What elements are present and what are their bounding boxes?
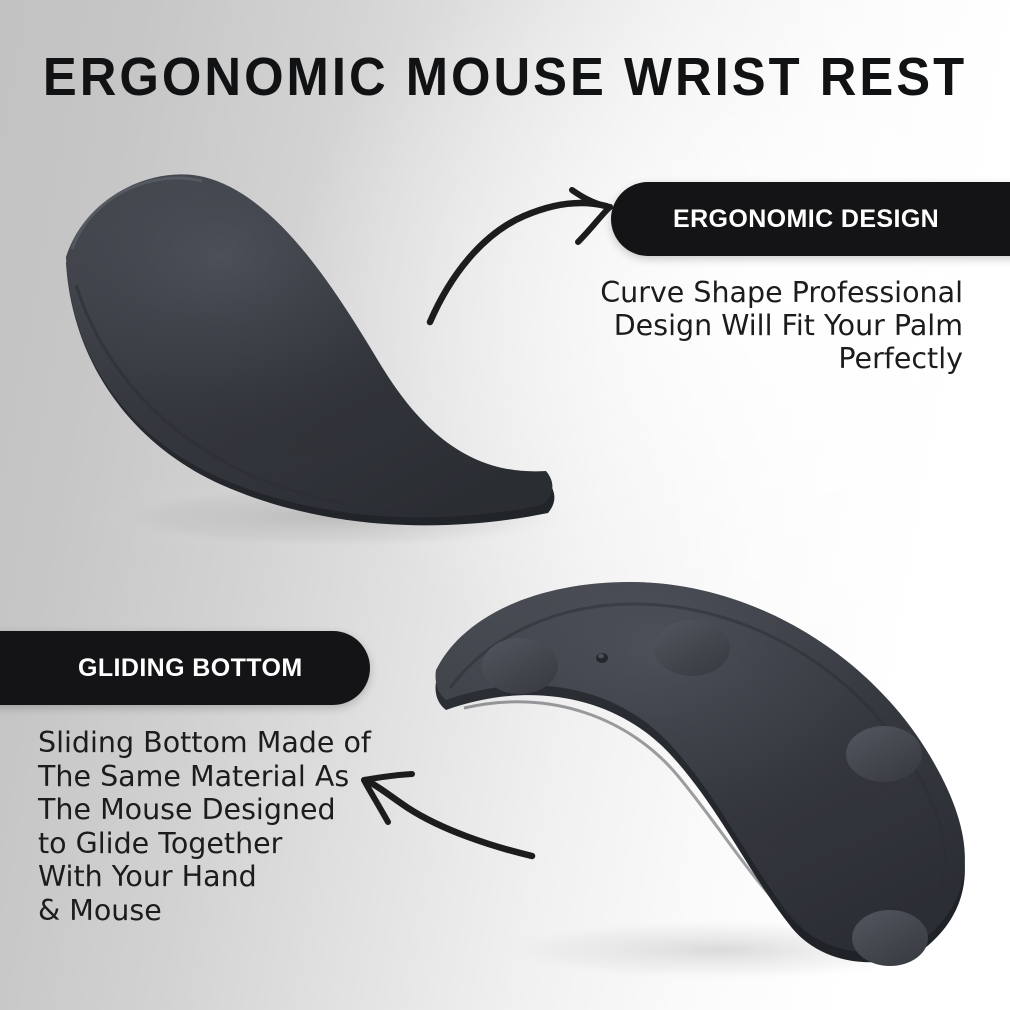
feature-description-line: & Mouse bbox=[38, 894, 398, 928]
badge-gliding-bottom: GLIDING BOTTOM bbox=[0, 631, 370, 705]
glide-pad bbox=[852, 910, 928, 966]
feature-description-line: Perfectly bbox=[533, 342, 963, 375]
badge-ergonomic-design-label: ERGONOMIC DESIGN bbox=[673, 205, 939, 234]
vent-hole-highlight bbox=[598, 654, 604, 658]
feature-description-line: Sliding Bottom Made of bbox=[38, 726, 398, 760]
feature-description-ergonomic: Curve Shape Professional Design Will Fit… bbox=[533, 276, 963, 375]
product-image-bottom-view bbox=[420, 570, 1010, 990]
product-infographic: ERGONOMIC MOUSE WRIST REST bbox=[0, 0, 1010, 1010]
page-title: ERGONOMIC MOUSE WRIST REST bbox=[30, 46, 979, 108]
glide-pad bbox=[482, 638, 558, 694]
feature-description-line: Design Will Fit Your Palm bbox=[533, 309, 963, 342]
badge-gliding-bottom-label: GLIDING BOTTOM bbox=[78, 654, 303, 683]
glide-pad bbox=[846, 726, 922, 782]
feature-description-line: Curve Shape Professional bbox=[533, 276, 963, 309]
badge-ergonomic-design: ERGONOMIC DESIGN bbox=[611, 182, 1010, 256]
glide-pad bbox=[654, 620, 730, 676]
